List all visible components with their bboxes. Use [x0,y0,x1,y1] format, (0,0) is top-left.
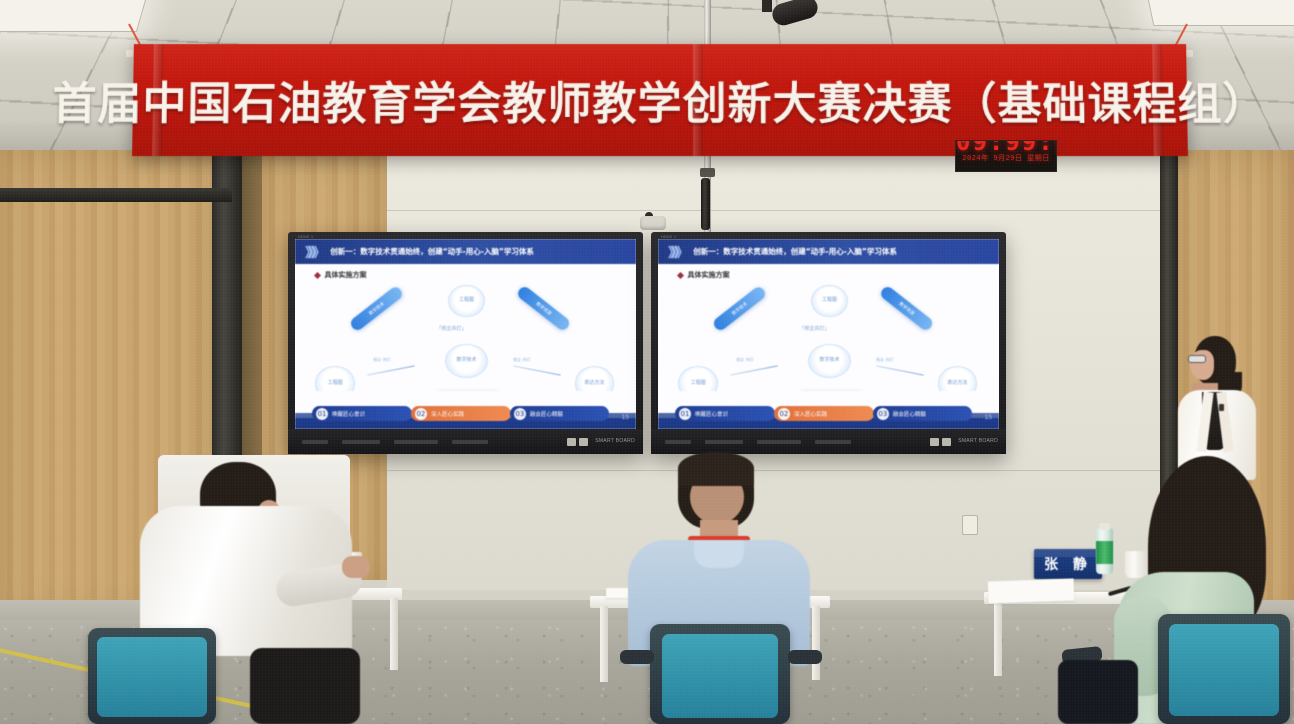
left-slide: 》》》 创新一：数字技术贯通始终，创建“动手-用心-入脑”学习体系 具体实施方案… [295,239,636,429]
banner-clip-right [1186,50,1193,57]
display-port-2 [342,440,380,444]
display-port-1-right [665,440,691,444]
left-display-chin: SMART BOARD [288,429,643,454]
glasses-icon [1188,355,1206,363]
display-port-2-right [705,440,743,444]
left-desk-leg-2 [390,598,398,670]
placard-name: 张 静 [1044,554,1092,574]
footer-step-3-number-2: 03 [877,408,889,420]
pole-joint [700,168,715,177]
diagram-arrow-label-left: 校企 共打 [373,357,390,363]
right-slide-bullet: 具体实施方案 [678,270,729,280]
left-slide-bullet-label: 具体实施方案 [324,270,366,280]
display-port-3-right [757,440,801,444]
wall-seam-upper [387,210,1177,211]
footer-step-1-label: 唤醒匠心意识 [332,410,365,418]
display-port-1 [302,440,328,444]
slide-page-number-2: 15 [985,414,993,421]
left-slide-title: 创新一：数字技术贯通始终，创建“动手-用心-入脑”学习体系 [330,246,534,257]
diagram-arrow-right-2 [877,366,924,376]
dark-beam-left [0,188,232,202]
wall-outlet [962,515,978,535]
diagram-node-top-2: 工程图 [811,285,847,317]
right-display-chin: SMART BOARD [651,429,1006,454]
chair-center-arm-right [788,650,822,664]
display-port-4 [452,440,488,444]
right-slide-title-bar: 》》》 创新一：数字技术贯通始终，创建“动手-用心-入脑”学习体系 [658,239,999,264]
center-desk-leg-1 [600,606,608,682]
display-brand-label: SMART BOARD [595,438,635,446]
diagram-node-center: 数字技术 [445,344,488,378]
footer-step-1-label-2: 唤醒匠心意识 [695,410,728,418]
display-power-button[interactable] [567,438,576,446]
diagram-pill-upper-left-2: 数字技术 [712,284,769,332]
display-brand-label-right: SMART BOARD [958,438,998,446]
placard-header-band [1034,549,1102,557]
footer-step-1-number: 01 [316,408,328,420]
paper-right[interactable] [988,579,1075,604]
diagram-center-caption-2: 「校企共打」 [800,325,830,332]
ceiling-light-panel-left [0,0,147,32]
chair-left[interactable] [88,628,216,724]
diamond-bullet-icon-2 [677,272,684,279]
conference-room-scene: 首届中国石油教育学会教师教学创新大赛决赛（基础课程组） 09:99:90 202… [0,0,1294,724]
footer-step-1: 01 唤醒匠心意识 [312,406,412,421]
judge-left-hand [342,556,370,578]
diagram-arrow-left-2 [730,366,777,376]
led-clock-display: 09:99:90 2024年 9月29日 星期日 [955,140,1057,172]
diagram-arrow-right [514,366,561,376]
display-buttons-right[interactable]: SMART BOARD [930,438,998,446]
diagram-node-top: 工程图 [448,285,484,317]
right-slide-footer: 01 唤醒匠心意识 02 深入匠心实践 03 融会匠心精髓 15 [658,391,999,429]
chair-right-mesh [1169,624,1279,716]
footer-step-1-number-2: 01 [679,408,691,420]
name-placard: 张 静 [1034,549,1102,579]
left-display-screen: 》》》 创新一：数字技术贯通始终，创建“动手-用心-入脑”学习体系 具体实施方案… [295,239,636,429]
bag-right [1058,660,1138,724]
diagram-arrow-left [367,366,414,376]
right-display[interactable]: HDMI 1 》》》 创新一：数字技术贯通始终，创建“动手-用心-入脑”学习体系… [651,232,1006,454]
footer-step-3-label-2: 融会匠心精髓 [893,410,926,418]
display-input-button[interactable] [579,438,588,446]
chevron-right-icon-2: 》》》 [668,242,685,261]
footer-step-3-label: 融会匠心精髓 [530,410,563,418]
diagram-node-center-2: 数字技术 [808,344,851,378]
diamond-bullet-icon [314,272,321,279]
footer-step-3: 03 融会匠心精髓 [510,406,610,421]
water-bottle-right-label [1096,541,1113,564]
diagram-arrow-label-right: 校企 共打 [513,357,530,363]
diagram-pill-upper-right: 教学资源 [516,284,573,332]
footer-step-2-right: 02 深入匠心实践 [774,406,874,421]
ceiling-sensor [640,216,666,230]
diagram-center-caption: 「校企共打」 [437,325,467,332]
banner-clip-left [126,50,133,57]
footer-step-1-right: 01 唤醒匠心意识 [675,406,775,421]
diagram-arrow-label-left-2: 校企 共打 [736,357,753,363]
ceiling-microphone-icon [701,178,710,230]
footer-step-2-number: 02 [415,408,427,420]
ceiling-light-panel-right [1147,0,1294,26]
right-slide: 》》》 创新一：数字技术贯通始终，创建“动手-用心-入脑”学习体系 具体实施方案… [658,239,999,429]
clip-microphone-icon [1219,404,1224,411]
water-bottle-right-cap [1099,523,1110,530]
display-port-3 [394,440,438,444]
judge-center-collar [694,540,744,568]
left-slide-footer: 01 唤醒匠心意识 02 深入匠心实践 03 融会匠心精髓 15 [295,391,636,429]
display-power-button-right[interactable] [930,438,939,446]
paper-cup-right[interactable] [1125,551,1147,578]
footer-step-2: 02 深入匠心实践 [411,406,511,421]
camera-mount-arm [762,0,772,12]
led-clock-date: 2024年 9月29日 星期日 [956,153,1056,163]
center-desk-leg-2 [812,606,820,680]
chevron-right-icon: 》》》 [305,242,322,261]
footer-step-3-number: 03 [514,408,526,420]
chair-right[interactable] [1158,614,1290,724]
chair-center-arm-left [620,650,654,664]
display-input-button-right[interactable] [942,438,951,446]
diagram-arrow-label-right-2: 校企 共打 [876,357,893,363]
wall-seam-lower [387,470,1177,471]
diagram-pill-upper-left: 数字技术 [349,284,406,332]
footer-step-2-label: 深入匠心实践 [431,410,464,418]
chair-center[interactable] [650,624,790,724]
display-port-4-right [815,440,851,444]
left-slide-title-bar: 》》》 创新一：数字技术贯通始终，创建“动手-用心-入脑”学习体系 [295,239,636,264]
left-slide-bullet: 具体实施方案 [315,270,366,280]
right-slide-bullet-label: 具体实施方案 [687,270,729,280]
right-display-screen: 》》》 创新一：数字技术贯通始终，创建“动手-用心-入脑”学习体系 具体实施方案… [658,239,999,429]
judge-center-hair [678,452,754,486]
left-display[interactable]: HDMI 1 》》》 创新一：数字技术贯通始终，创建“动手-用心-入脑”学习体系… [288,232,643,454]
slide-page-number: 15 [622,414,630,421]
footer-step-2-number-2: 02 [778,408,790,420]
display-buttons[interactable]: SMART BOARD [567,438,635,446]
chair-center-mesh [662,634,778,718]
diagram-pill-upper-right-2: 教学资源 [879,284,936,332]
right-slide-title: 创新一：数字技术贯通始终，创建“动手-用心-入脑”学习体系 [693,246,897,257]
footer-step-3-right: 03 融会匠心精髓 [873,406,973,421]
right-desk-leg-1 [994,602,1002,676]
chair-left-mesh [97,637,207,717]
footer-step-2-label-2: 深入匠心实践 [794,410,827,418]
judge-left-trousers [250,648,360,724]
